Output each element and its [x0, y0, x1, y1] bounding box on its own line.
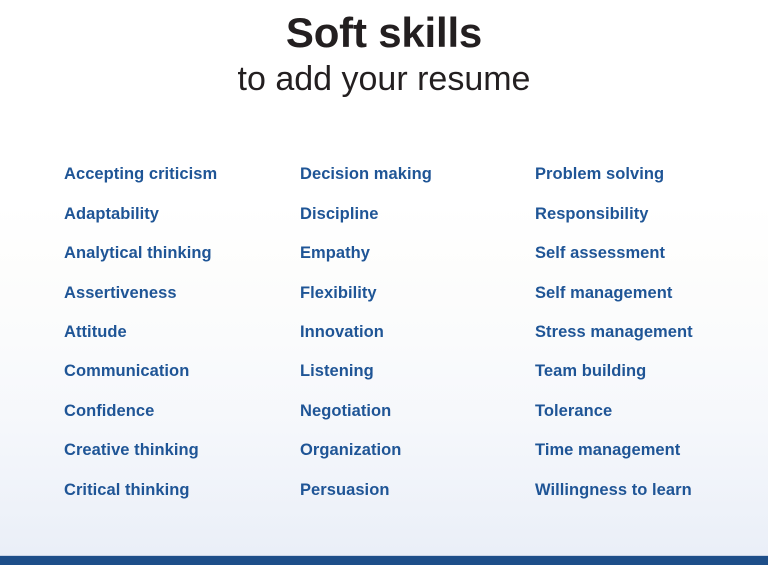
- skill-column-1: Accepting criticism Adaptability Analyti…: [64, 155, 300, 510]
- skill-item: Empathy: [300, 234, 535, 273]
- skill-item: Communication: [64, 352, 300, 391]
- skill-item: Problem solving: [535, 155, 724, 194]
- skill-item: Listening: [300, 352, 535, 391]
- skill-column-2: Decision making Discipline Empathy Flexi…: [300, 155, 535, 510]
- skill-item: Critical thinking: [64, 470, 300, 509]
- skills-grid: Accepting criticism Adaptability Analyti…: [64, 155, 724, 510]
- skill-item: Persuasion: [300, 470, 535, 509]
- skill-item: Attitude: [64, 313, 300, 352]
- skill-item: Self management: [535, 273, 724, 312]
- skill-item: Creative thinking: [64, 431, 300, 470]
- skill-item: Analytical thinking: [64, 234, 300, 273]
- skill-item: Decision making: [300, 155, 535, 194]
- page-title: Soft skills: [0, 11, 768, 56]
- skill-item: Innovation: [300, 313, 535, 352]
- skill-item: Assertiveness: [64, 273, 300, 312]
- skill-item: Accepting criticism: [64, 155, 300, 194]
- skill-item: Responsibility: [535, 194, 724, 233]
- skill-item: Confidence: [64, 391, 300, 430]
- skill-item: Self assessment: [535, 234, 724, 273]
- page-subtitle: to add your resume: [0, 59, 768, 99]
- skill-item: Tolerance: [535, 391, 724, 430]
- skill-item: Adaptability: [64, 194, 300, 233]
- skill-item: Flexibility: [300, 273, 535, 312]
- skill-item: Organization: [300, 431, 535, 470]
- bottom-accent-bar: [0, 556, 768, 565]
- slide-header: Soft skills to add your resume: [0, 0, 768, 99]
- skill-item: Willingness to learn: [535, 470, 724, 509]
- skill-item: Team building: [535, 352, 724, 391]
- slide-canvas: Soft skills to add your resume Accepting…: [0, 0, 768, 565]
- skill-column-3: Problem solving Responsibility Self asse…: [535, 155, 724, 510]
- skill-item: Negotiation: [300, 391, 535, 430]
- skill-item: Time management: [535, 431, 724, 470]
- skill-item: Discipline: [300, 194, 535, 233]
- skill-item: Stress management: [535, 313, 724, 352]
